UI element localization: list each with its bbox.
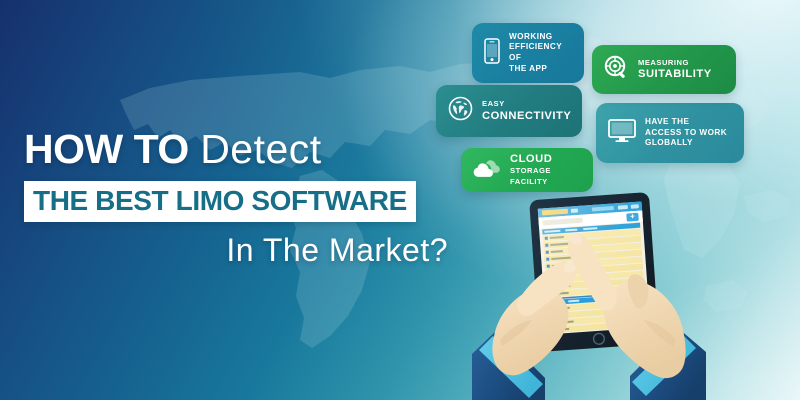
left-hand xyxy=(472,259,578,400)
right-hand xyxy=(568,232,706,400)
hands-illustration xyxy=(0,0,800,400)
hero-banner: HOW TO Detect THE BEST LIMO SOFTWARE In … xyxy=(0,0,800,400)
